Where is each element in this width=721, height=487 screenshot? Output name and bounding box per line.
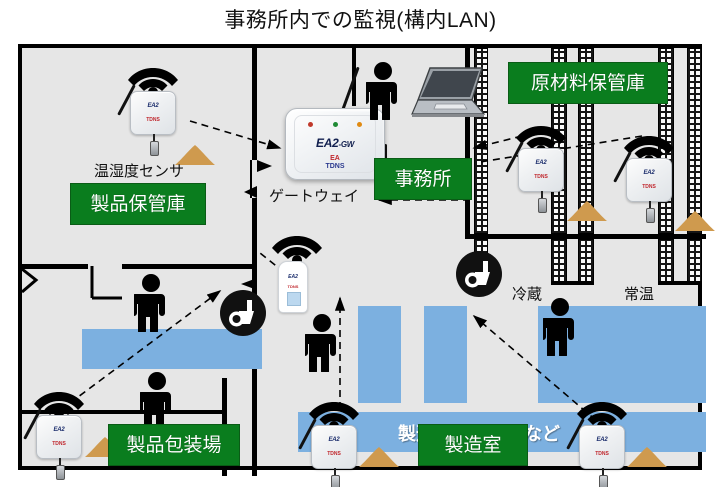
status-led-green (333, 122, 338, 127)
temperature-humidity-sensor[interactable]: EA2 TDNS (311, 425, 357, 471)
wifi-icon (126, 60, 180, 94)
cone-icon (626, 446, 668, 468)
person-icon (134, 274, 168, 332)
shelf-unit (658, 239, 674, 284)
label-gateway: ゲートウェイ (269, 185, 359, 206)
room-label-office: 事務所 (374, 158, 472, 200)
temperature-humidity-sensor[interactable]: EA2 TDNS (518, 148, 564, 194)
wall-vertical-left (252, 48, 257, 160)
shelf-unit (687, 239, 702, 284)
room-label-manufacturing: 製造室 (418, 424, 528, 466)
wall-mount-sensor[interactable]: EA2 TDNS (278, 261, 308, 313)
sensor-brand: TDNS (626, 184, 672, 190)
shelf-unit (687, 48, 702, 234)
sensor-brand: TDNS (311, 451, 357, 457)
room-label-material-storage: 原材料保管庫 (508, 62, 668, 104)
wifi-icon (32, 384, 86, 418)
cone-icon (674, 210, 716, 232)
temperature-humidity-sensor[interactable]: EA2 TDNS (36, 415, 82, 461)
wall-horizontal-upper-left-2 (122, 264, 255, 269)
security-camera-icon (220, 290, 266, 336)
sensor-probe (599, 468, 607, 487)
person-icon (366, 62, 400, 120)
equipment-block-center2 (424, 306, 467, 403)
security-camera-icon (456, 251, 502, 297)
wifi-icon (575, 394, 629, 428)
laptop-icon (410, 66, 488, 122)
label-room-temperature: 常温 (624, 283, 654, 304)
sensor-body (311, 425, 357, 469)
sensor-brand: TDNS (36, 441, 82, 447)
sensor-model: EA2 (626, 170, 672, 176)
wall-horizontal-upper-left (22, 264, 88, 269)
person-icon (305, 314, 339, 372)
status-led-amber (357, 122, 362, 127)
sensor-model: EA2 (36, 427, 82, 433)
sensor-body (579, 425, 625, 469)
cone-icon (566, 200, 608, 222)
sensor-brand: TDNS (130, 117, 176, 123)
shelf-unit (551, 239, 567, 284)
gateway-brand-text: EA (330, 155, 340, 162)
sensor-brand: TDNS (579, 451, 625, 457)
wifi-icon (270, 228, 324, 262)
sensor-body (626, 158, 672, 202)
temperature-humidity-sensor[interactable]: EA2 TDNS (579, 425, 625, 471)
room-label-packaging: 製品包装場 (108, 424, 240, 466)
shelf-unit (578, 239, 594, 284)
equipment-block-center (358, 306, 401, 403)
cone-icon (358, 446, 400, 468)
temperature-humidity-sensor[interactable]: EA2 TDNS (626, 158, 672, 204)
sensor-model: EA2 (130, 103, 176, 109)
sensor-brand: TDNS (279, 284, 307, 289)
gateway-model: EA2-GW (285, 136, 385, 150)
page-title: 事務所内での監視(構内LAN) (0, 4, 721, 34)
wifi-icon (307, 394, 361, 428)
label-temp-humidity-sensor: 温湿度センサ (94, 160, 184, 181)
room-label-product-storage: 製品保管庫 (70, 183, 206, 225)
sensor-probe (646, 201, 654, 223)
sensor-body (518, 148, 564, 192)
sensor-probe (538, 191, 546, 213)
shelf-base (551, 281, 594, 285)
shelf-base (658, 281, 702, 285)
sensor-probe (150, 134, 158, 156)
person-icon (543, 298, 577, 356)
label-refrigerated: 冷蔵 (512, 283, 542, 304)
gateway-model-suffix: -GW (338, 140, 354, 149)
gateway-brand-sub: TDNS (325, 163, 344, 170)
wifi-icon (622, 128, 676, 162)
floor-plan: EA2 TDNS EA2 TDNS EA2 TDNS EA2 TDNS (18, 44, 702, 470)
diagram-canvas: 事務所内での監視(構内LAN) (0, 0, 721, 487)
sensor-model: EA2 (279, 274, 307, 280)
temperature-humidity-sensor[interactable]: EA2 TDNS (130, 91, 176, 137)
sensor-display (287, 292, 301, 306)
sensor-model: EA2 (579, 437, 625, 443)
sensor-brand: TDNS (518, 174, 564, 180)
gateway-model-text: EA2 (316, 136, 338, 150)
wifi-icon (514, 118, 568, 152)
person-icon (140, 372, 174, 430)
gateway-brand: EA TDNS (285, 155, 385, 170)
sensor-body (130, 91, 176, 135)
sensor-model: EA2 (311, 437, 357, 443)
sensor-model: EA2 (518, 160, 564, 166)
sensor-probe (56, 458, 64, 480)
sensor-probe (331, 468, 339, 487)
status-led-red (308, 122, 313, 127)
sensor-body (36, 415, 82, 459)
